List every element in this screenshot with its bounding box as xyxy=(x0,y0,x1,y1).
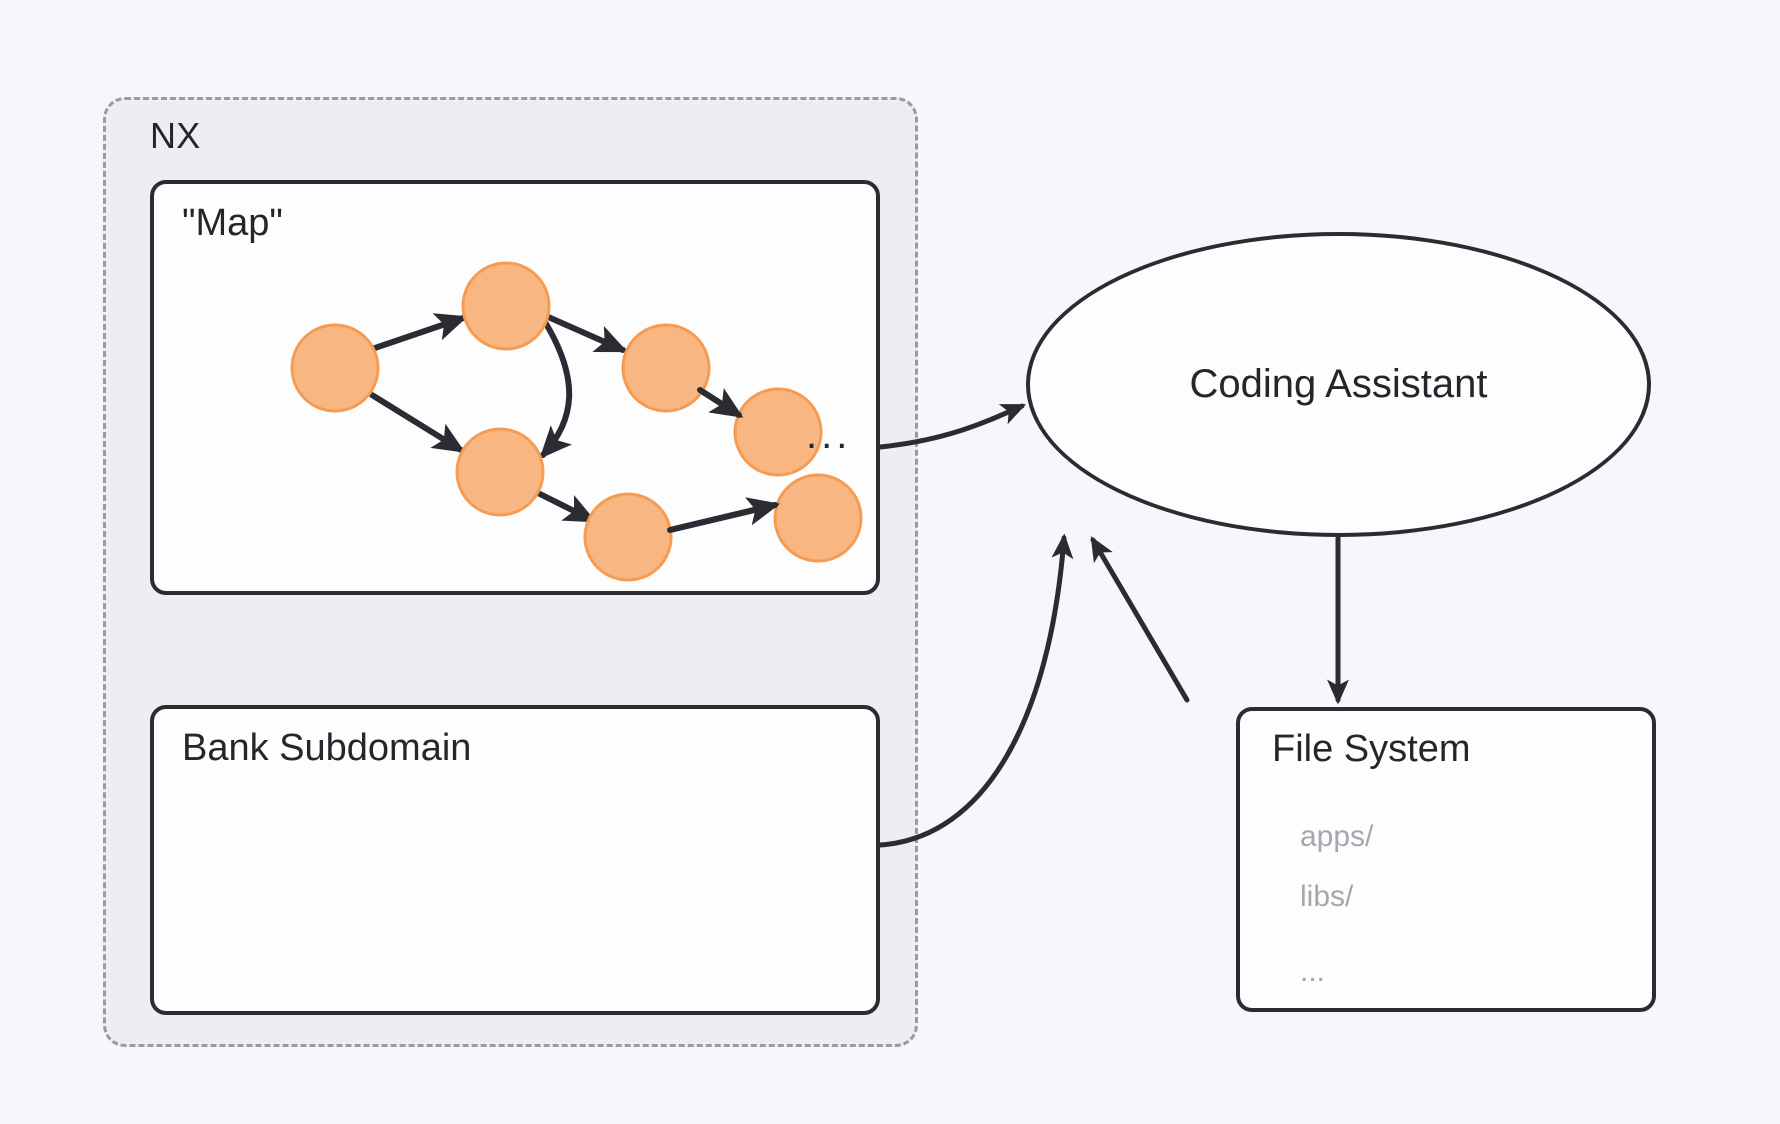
diagram-canvas: NX "Map" xyxy=(0,0,1780,1124)
file-system-entry: ... xyxy=(1300,955,1325,989)
bank-subdomain-title: Bank Subdomain xyxy=(182,727,471,770)
file-system-entry: apps/ xyxy=(1300,820,1373,854)
map-card-ellipsis: ... xyxy=(806,415,851,455)
nx-group-label: NX xyxy=(150,115,201,157)
file-system-title: File System xyxy=(1272,728,1470,771)
coding-assistant-label: Coding Assistant xyxy=(1026,362,1651,407)
file-system-entry: libs/ xyxy=(1300,880,1353,914)
connection-filesystem-to-assistant xyxy=(1093,540,1187,700)
map-card-title: "Map" xyxy=(182,202,283,245)
